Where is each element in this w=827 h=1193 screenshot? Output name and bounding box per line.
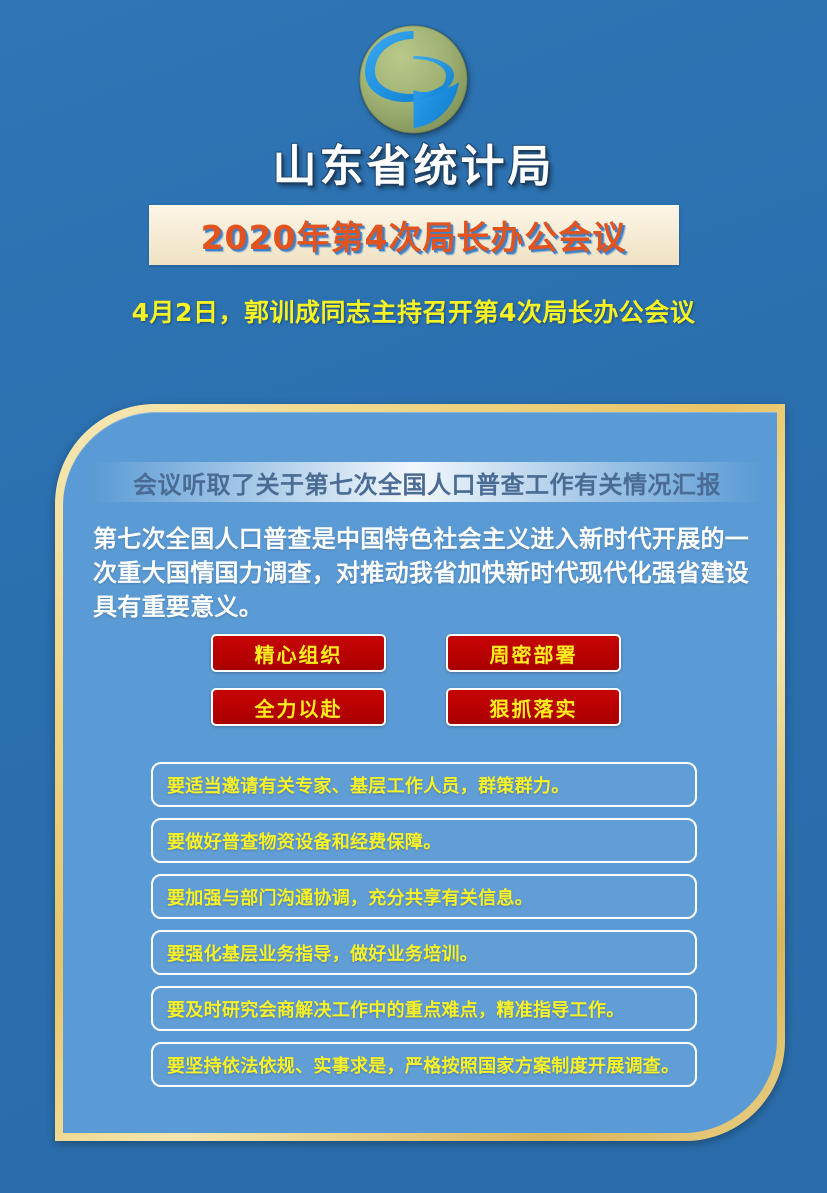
list-item: 要做好普查物资设备和经费保障。 [151, 818, 697, 863]
keyword-button-4[interactable]: 狠抓落实 [446, 688, 621, 726]
list-item: 要强化基层业务指导，做好业务培训。 [151, 930, 697, 975]
measure-list: 要适当邀请有关专家、基层工作人员，群策群力。 要做好普查物资设备和经费保障。 要… [151, 762, 697, 1087]
banner-title: 2020年第4次局长办公会议 [201, 211, 627, 259]
section-title: 会议听取了关于第七次全国人口普查工作有关情况汇报 [133, 465, 721, 500]
list-item: 要坚持依法依规、实事求是，严格按照国家方案制度开展调查。 [151, 1042, 697, 1087]
section-title-band: 会议听取了关于第七次全国人口普查工作有关情况汇报 [93, 462, 761, 502]
list-item: 要及时研究会商解决工作中的重点难点，精准指导工作。 [151, 986, 697, 1031]
list-item: 要加强与部门沟通协调，充分共享有关信息。 [151, 874, 697, 919]
shandong-statistics-bureau-logo-icon [356, 22, 471, 137]
page-header: 山东省统计局 2020年第4次局长办公会议 4月2日，郭训成同志主持召开第4次局… [0, 0, 827, 329]
list-item: 要适当邀请有关专家、基层工作人员，群策群力。 [151, 762, 697, 807]
keyword-button-3[interactable]: 全力以赴 [211, 688, 386, 726]
org-title: 山东省统计局 [0, 143, 827, 191]
section-paragraph: 第七次全国人口普查是中国特色社会主义进入新时代开展的一次重大国情国力调查，对推动… [93, 522, 765, 624]
keyword-button-2[interactable]: 周密部署 [446, 634, 621, 672]
keyword-button-1[interactable]: 精心组织 [211, 634, 386, 672]
meeting-banner: 2020年第4次局长办公会议 [149, 205, 679, 265]
content-panel-frame: 会议听取了关于第七次全国人口普查工作有关情况汇报 第七次全国人口普查是中国特色社… [55, 404, 785, 1141]
keyword-button-grid: 精心组织 周密部署 全力以赴 狠抓落实 [211, 634, 651, 726]
meeting-date-line: 4月2日，郭训成同志主持召开第4次局长办公会议 [0, 293, 827, 329]
content-panel: 会议听取了关于第七次全国人口普查工作有关情况汇报 第七次全国人口普查是中国特色社… [63, 412, 777, 1133]
